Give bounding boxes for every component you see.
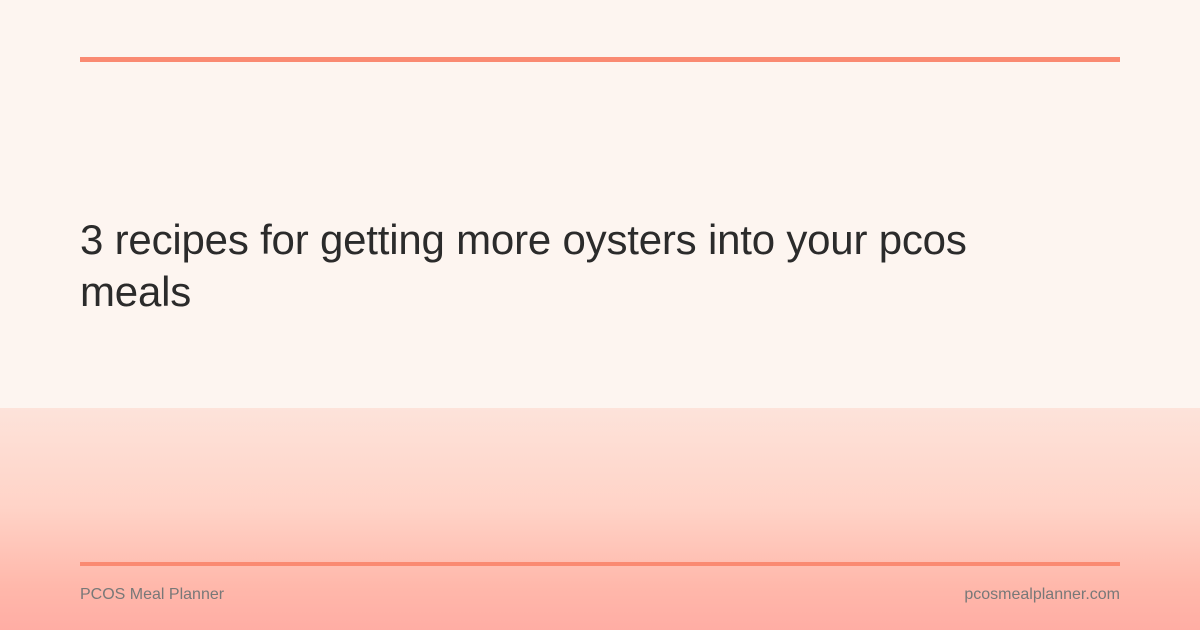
social-share-card: 3 recipes for getting more oysters into …	[0, 0, 1200, 630]
page-title: 3 recipes for getting more oysters into …	[80, 214, 980, 318]
top-accent-rule	[80, 57, 1120, 62]
footer-row: PCOS Meal Planner pcosmealplanner.com	[80, 586, 1120, 604]
brand-name: PCOS Meal Planner	[80, 586, 224, 604]
site-url: pcosmealplanner.com	[964, 586, 1120, 604]
footer-divider-rule	[80, 562, 1120, 566]
headline-container: 3 recipes for getting more oysters into …	[80, 214, 1080, 318]
card-footer: PCOS Meal Planner pcosmealplanner.com	[80, 562, 1120, 604]
